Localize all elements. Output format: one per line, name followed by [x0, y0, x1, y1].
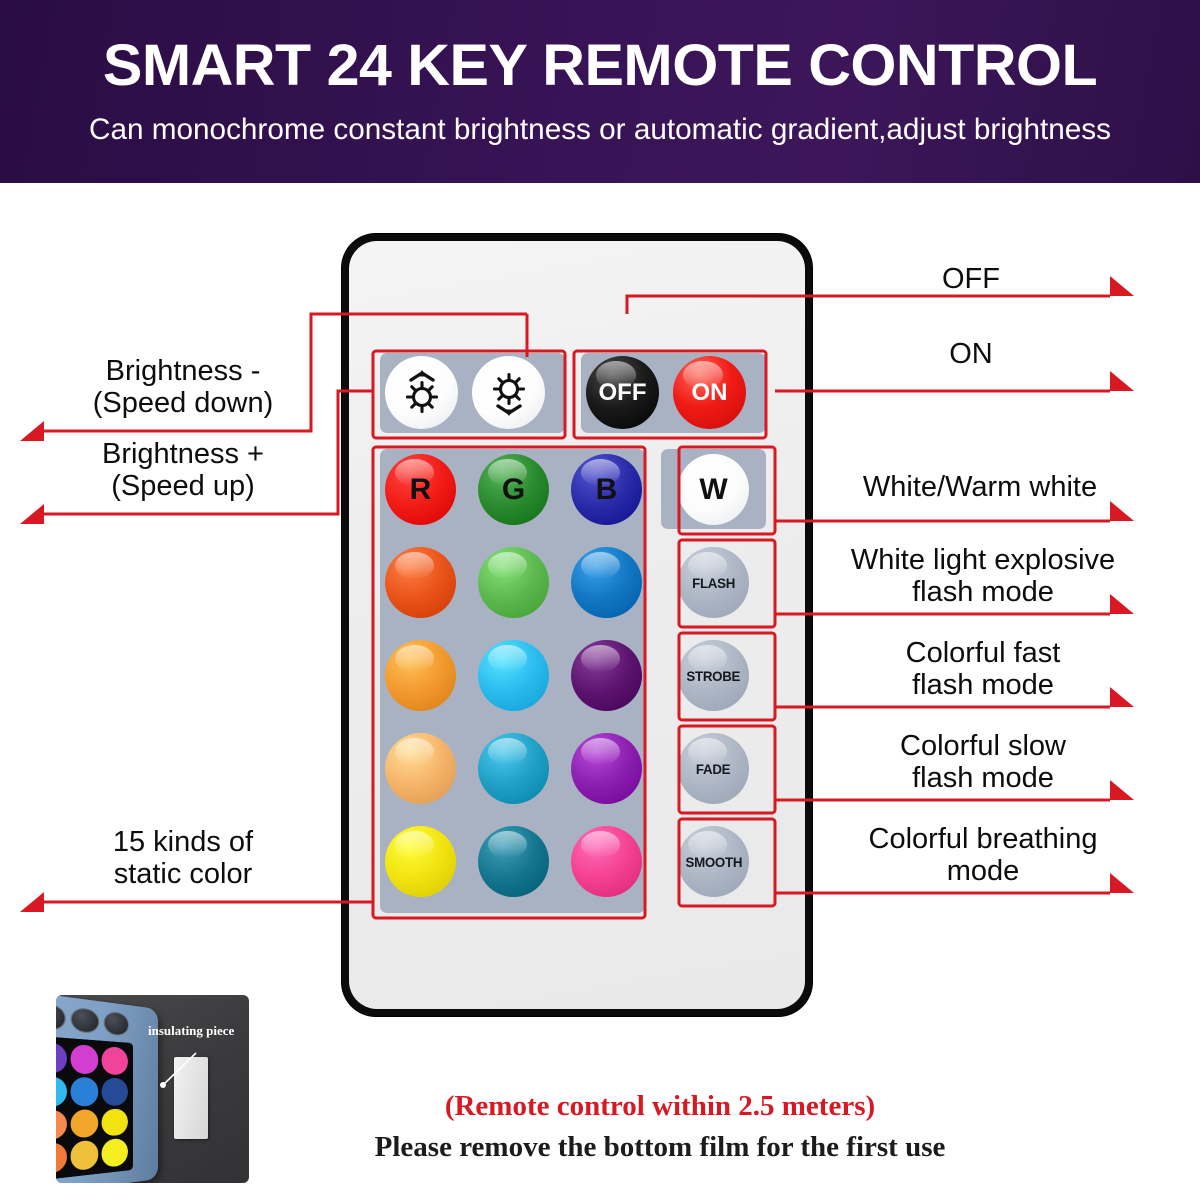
color-button-label: R: [410, 473, 432, 507]
remote-control-device: OFF ON RGB W FLASH STROBE FADE SMOOTH: [342, 234, 812, 1016]
label-flash: White light explosive flash mode: [818, 544, 1148, 609]
color-button[interactable]: [385, 826, 456, 897]
smooth-button-label: SMOOTH: [685, 854, 742, 870]
smooth-button[interactable]: SMOOTH: [678, 826, 749, 897]
sun-down-arrow-icon: [486, 368, 532, 418]
flash-button-label: FLASH: [692, 575, 735, 591]
label-on: ON: [836, 338, 1106, 370]
footer-notes: (Remote control within 2.5 meters) Pleas…: [300, 1088, 1020, 1167]
color-button[interactable]: [478, 826, 549, 897]
color-button[interactable]: [478, 733, 549, 804]
color-button[interactable]: R: [385, 454, 456, 525]
color-button[interactable]: [478, 547, 549, 618]
power-on-label: ON: [692, 379, 728, 407]
label-fade: Colorful slow flash mode: [818, 730, 1148, 795]
label-off: OFF: [836, 263, 1106, 295]
white-button-label: W: [699, 473, 727, 507]
color-button[interactable]: [385, 640, 456, 711]
color-button[interactable]: B: [571, 454, 642, 525]
strobe-button[interactable]: STROBE: [678, 640, 749, 711]
fade-button[interactable]: FADE: [678, 733, 749, 804]
insulating-piece-photo: insulating piece: [56, 995, 249, 1183]
color-button-label: B: [596, 473, 618, 507]
color-button[interactable]: [571, 826, 642, 897]
label-strobe: Colorful fast flash mode: [818, 637, 1148, 702]
color-button[interactable]: [571, 733, 642, 804]
footer-note: Please remove the bottom film for the fi…: [300, 1129, 1020, 1167]
label-brightness-plus: Brightness + (Speed up): [38, 438, 328, 503]
power-on-button[interactable]: ON: [673, 356, 746, 429]
strobe-button-label: STROBE: [687, 668, 741, 684]
page-subtitle: Can monochrome constant brightness or au…: [6, 113, 1194, 146]
power-off-button[interactable]: OFF: [586, 356, 659, 429]
sun-up-arrow-icon: [399, 368, 445, 418]
brightness-up-button[interactable]: [385, 356, 458, 429]
header-banner: SMART 24 KEY REMOTE CONTROL Can monochro…: [0, 0, 1200, 183]
page-title: SMART 24 KEY REMOTE CONTROL: [0, 36, 1200, 97]
color-button[interactable]: [385, 547, 456, 618]
brightness-down-button[interactable]: [472, 356, 545, 429]
color-button[interactable]: [478, 640, 549, 711]
label-static-colors: 15 kinds of static color: [38, 826, 328, 891]
remote-faceplate: OFF ON RGB W FLASH STROBE FADE SMOOTH: [349, 241, 805, 1009]
footer-warning: (Remote control within 2.5 meters): [300, 1088, 1020, 1124]
color-button[interactable]: G: [478, 454, 549, 525]
color-button[interactable]: [571, 640, 642, 711]
label-brightness-minus: Brightness - (Speed down): [38, 355, 328, 420]
fade-button-label: FADE: [696, 761, 730, 777]
power-off-label: OFF: [599, 379, 647, 407]
label-smooth: Colorful breathing mode: [818, 823, 1148, 888]
color-button[interactable]: [571, 547, 642, 618]
label-white: White/Warm white: [820, 471, 1140, 503]
color-button[interactable]: [385, 733, 456, 804]
flash-button[interactable]: FLASH: [678, 547, 749, 618]
diagram-stage: OFF ON RGB W FLASH STROBE FADE SMOOTH: [0, 183, 1200, 1200]
white-button[interactable]: W: [678, 454, 749, 525]
insulating-piece-caption: insulating piece: [148, 1023, 234, 1039]
color-button-label: G: [502, 473, 525, 507]
